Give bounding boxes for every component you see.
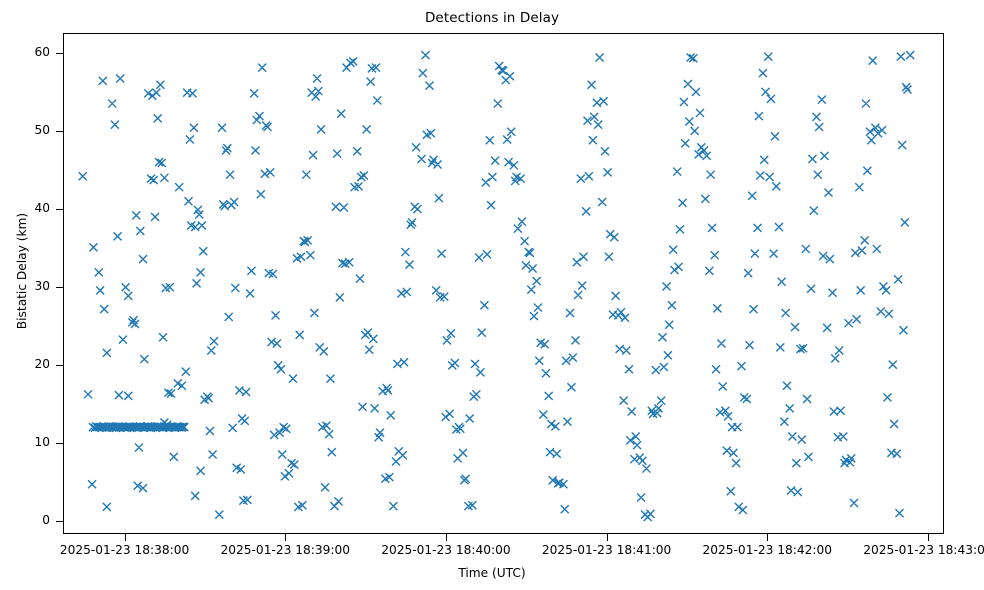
x-axis-label: Time (UTC)	[0, 566, 984, 580]
x-tick-label: 2025-01-23 18:42:00	[703, 543, 832, 557]
scatter-marker-group	[79, 51, 914, 521]
page-title: Detections in Delay	[0, 10, 984, 26]
x-tick-label: 2025-01-23 18:41:00	[542, 543, 671, 557]
x-tick-mark	[767, 534, 768, 541]
x-tick-mark	[125, 534, 126, 541]
y-axis-label: Bistatic Delay (km)	[15, 11, 29, 531]
y-tick-mark	[56, 443, 63, 444]
y-tick-mark	[56, 53, 63, 54]
y-tick-mark	[56, 209, 63, 210]
x-tick-label: 2025-01-23 18:38:00	[60, 543, 189, 557]
x-tick-mark	[928, 534, 929, 541]
x-tick-mark	[607, 534, 608, 541]
y-tick-mark	[56, 287, 63, 288]
scatter-markers	[79, 51, 914, 521]
y-tick-mark	[56, 521, 63, 522]
x-tick-label: 2025-01-23 18:39:00	[221, 543, 350, 557]
x-tick-label: 2025-01-23 18:43:00	[863, 543, 984, 557]
x-tick-label: 2025-01-23 18:40:00	[381, 543, 510, 557]
figure-canvas: Detections in Delay 0102030405060 2025-0…	[0, 0, 984, 590]
y-tick-mark	[56, 365, 63, 366]
scatter-points-layer	[64, 34, 944, 534]
y-tick-mark	[56, 131, 63, 132]
plot-area	[63, 33, 944, 534]
x-tick-mark	[285, 534, 286, 541]
x-tick-mark	[446, 534, 447, 541]
